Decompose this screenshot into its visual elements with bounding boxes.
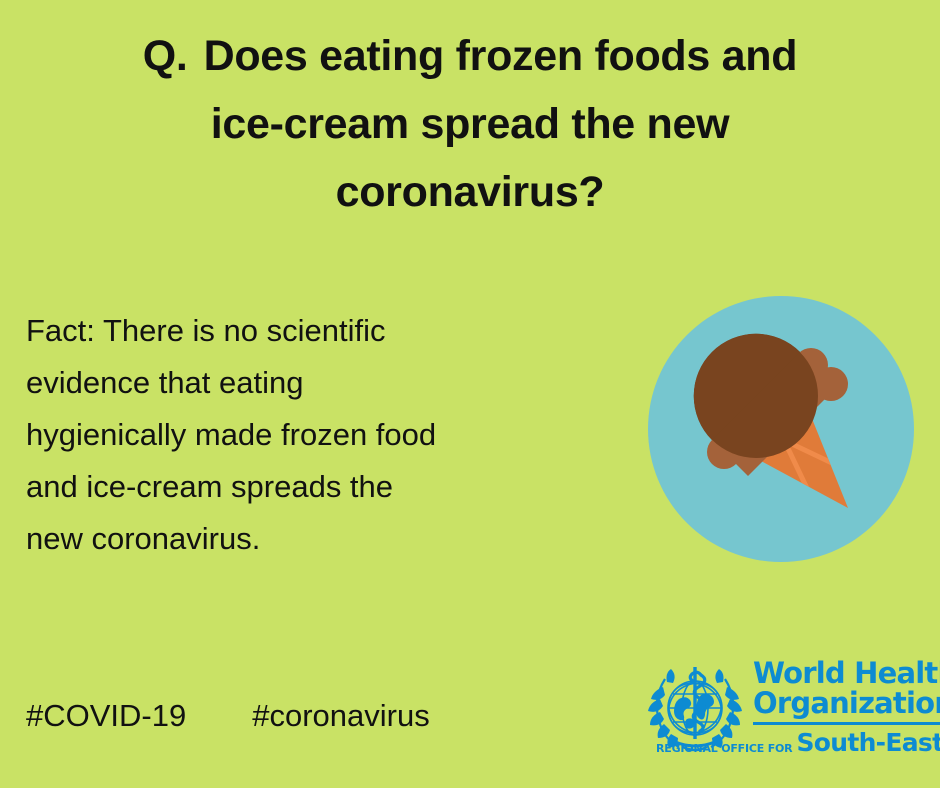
- ice-cream-cone-icon: [648, 296, 914, 562]
- fact-line-5: new coronavirus.: [26, 513, 626, 565]
- who-wordmark: World Health Organization REGIONAL OFFIC…: [753, 658, 940, 756]
- hashtag-row: #COVID-19 #coronavirus: [26, 698, 430, 734]
- question-line-3: coronavirus?: [40, 158, 900, 226]
- who-divider-rule: [753, 722, 940, 725]
- who-name-line-1: World Health: [753, 658, 940, 688]
- fact-line-4: and ice-cream spreads the: [26, 461, 626, 513]
- hashtag-covid19: #COVID-19: [26, 698, 186, 734]
- fact-paragraph: Fact: There is no scientific evidence th…: [26, 305, 626, 565]
- question-line-1-text: Does eating frozen foods and: [204, 32, 798, 80]
- fact-line-3: hygienically made frozen food: [26, 409, 626, 461]
- question-heading: Q.Does eating frozen foods and ice-cream…: [0, 22, 940, 226]
- question-line-1: Q.Does eating frozen foods and: [40, 22, 900, 90]
- who-logo: World Health Organization REGIONAL OFFIC…: [643, 645, 940, 757]
- hashtag-coronavirus: #coronavirus: [252, 698, 429, 734]
- question-label: Q.: [143, 32, 188, 80]
- who-region-name: South-East Asia: [796, 730, 940, 756]
- who-name-line-2: Organization: [753, 688, 940, 718]
- who-regional-office-label: REGIONAL OFFICE FOR: [656, 742, 792, 755]
- who-region-row: REGIONAL OFFICE FOR South-East Asia: [753, 730, 940, 756]
- fact-line-2: evidence that eating: [26, 357, 626, 409]
- poster-canvas: Q.Does eating frozen foods and ice-cream…: [0, 0, 940, 788]
- question-line-2: ice-cream spread the new: [40, 90, 900, 158]
- fact-line-1: Fact: There is no scientific: [26, 305, 626, 357]
